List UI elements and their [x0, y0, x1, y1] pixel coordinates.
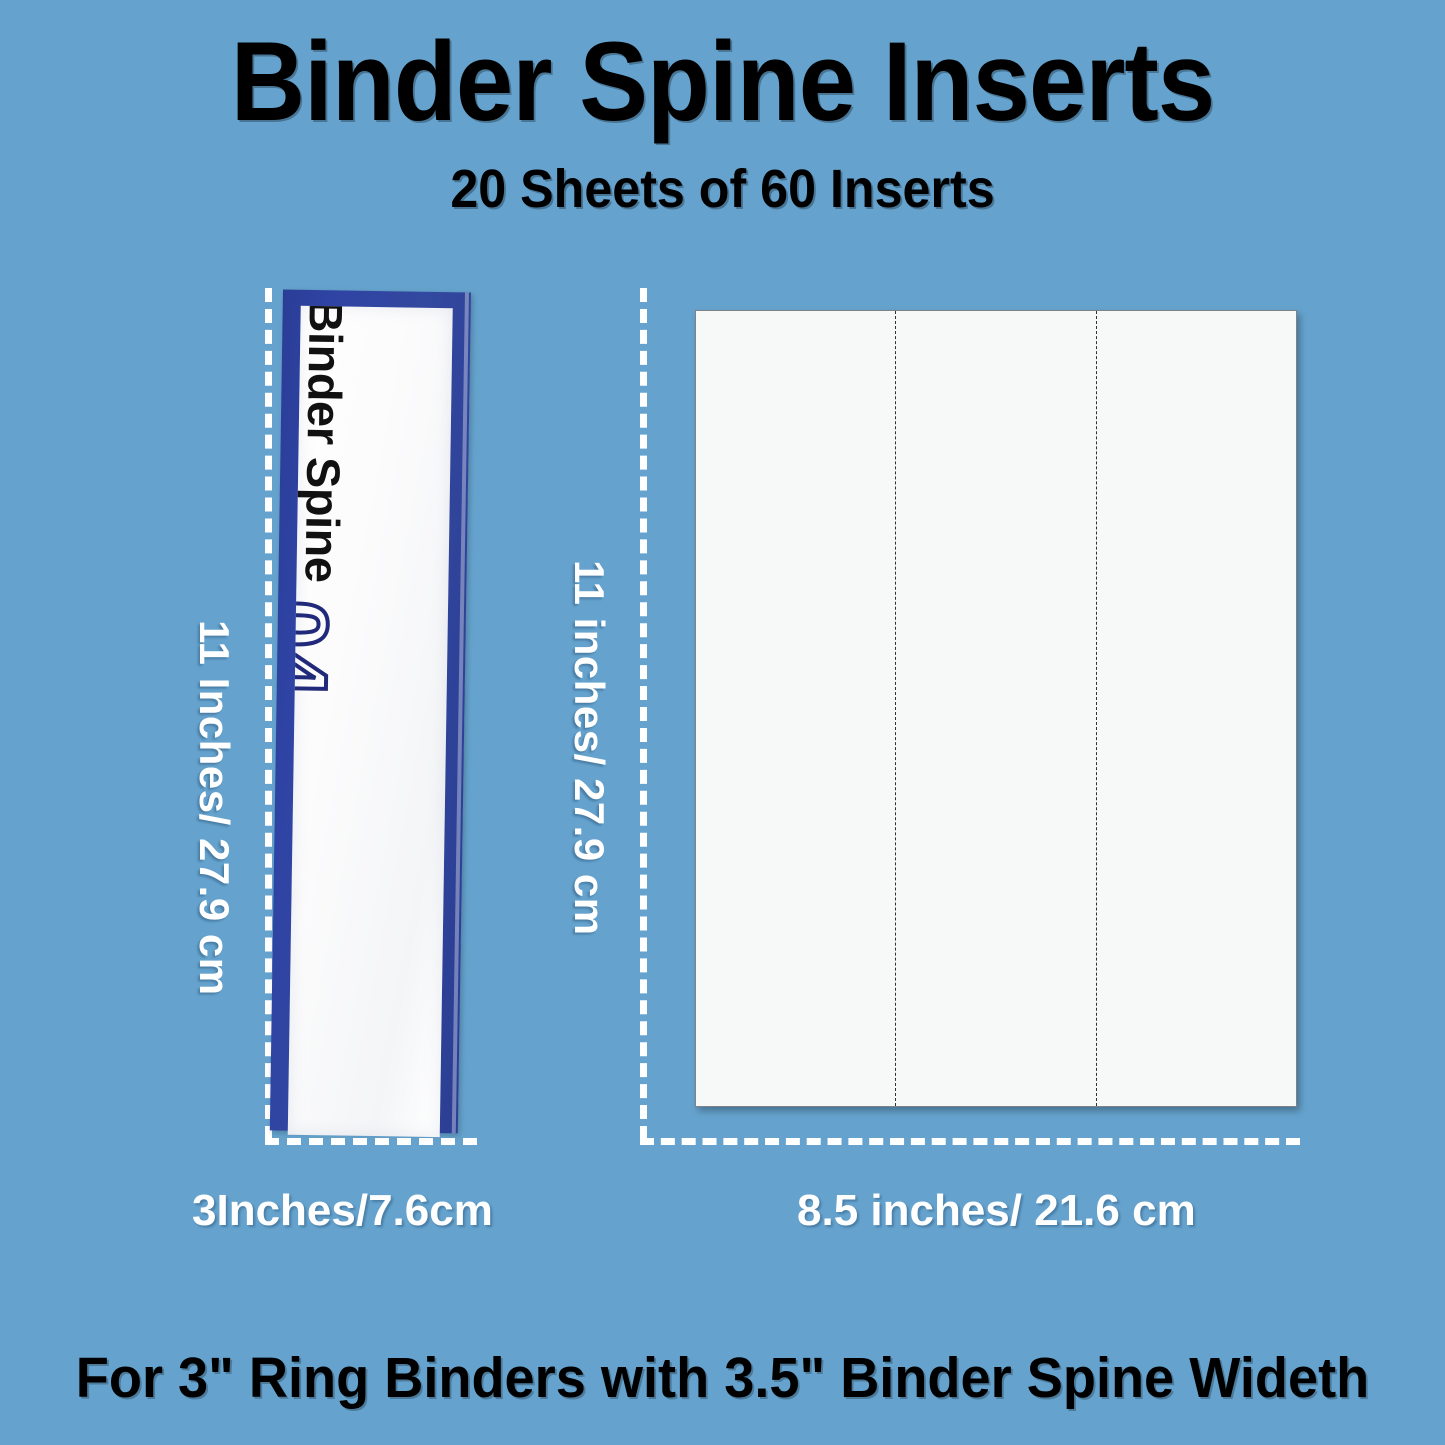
insert-sheet	[695, 310, 1297, 1107]
sheet-column	[1096, 311, 1296, 1106]
sheet-column	[895, 311, 1095, 1106]
right-product-figure: 11 inches/ 27.9 cm 8.5 inches/ 21.6 cm	[0, 0, 1445, 1300]
right-horizontal-measure-guide	[640, 1138, 1300, 1145]
right-height-dimension-label: 11 inches/ 27.9 cm	[565, 560, 613, 936]
right-vertical-measure-guide	[640, 288, 647, 1140]
right-width-dimension-label: 8.5 inches/ 21.6 cm	[797, 1186, 1196, 1236]
sheet-column	[696, 311, 895, 1106]
footer-caption: For 3" Ring Binders with 3.5" Binder Spi…	[36, 1345, 1409, 1411]
